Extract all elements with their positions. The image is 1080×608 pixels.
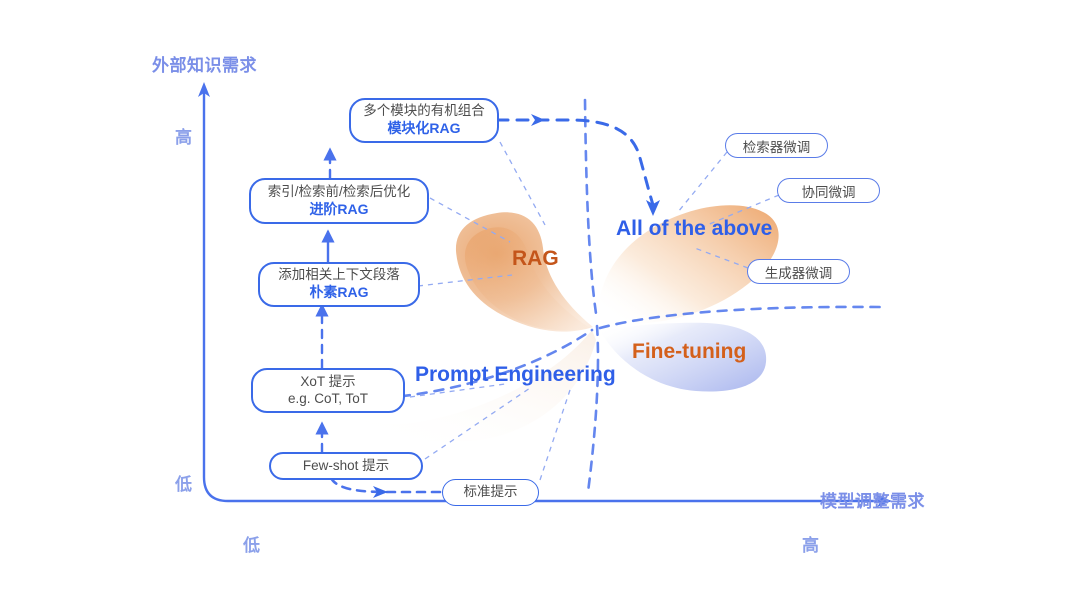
divider-vertical <box>585 100 597 320</box>
node-advanced-rag-line2: 进阶RAG <box>309 201 368 219</box>
modular-to-allabove-arrow <box>497 114 660 216</box>
node-naive-rag-line2: 朴素RAG <box>309 284 368 302</box>
node-xot-prompting[interactable]: XoT 提示 e.g. CoT, ToT <box>251 368 405 413</box>
pill-retriever-finetune[interactable]: 检索器微调 <box>725 133 828 158</box>
x-axis-tick-low: 低 <box>243 531 260 556</box>
connector-retriever <box>678 152 727 212</box>
node-xot-prompting-line1: XoT 提示 <box>300 374 355 391</box>
pill-collaborative-finetune-label: 协同微调 <box>802 181 856 201</box>
node-modular-rag[interactable]: 多个模块的有机组合 模块化RAG <box>349 98 499 143</box>
node-few-shot-prompting-label: Few-shot 提示 <box>303 458 389 475</box>
region-label-fine-tuning: Fine-tuning <box>632 340 746 364</box>
region-label-all-of-the-above: All of the above <box>616 217 772 241</box>
pill-generator-finetune[interactable]: 生成器微调 <box>747 259 850 284</box>
diagram-canvas: 外部知识需求 模型调整需求 高 低 低 高 RAG Fine-tuning Al… <box>0 0 1080 608</box>
y-axis-tick-high: 高 <box>175 123 192 148</box>
node-advanced-rag[interactable]: 索引/检索前/检索后优化 进阶RAG <box>249 178 429 224</box>
pill-retriever-finetune-label: 检索器微调 <box>743 136 811 156</box>
pill-generator-finetune-label: 生成器微调 <box>765 262 833 282</box>
x-axis-title: 模型调整需求 <box>820 487 925 512</box>
node-standard-prompting-label: 标准提示 <box>464 484 518 501</box>
node-modular-rag-line1: 多个模块的有机组合 <box>363 103 485 120</box>
region-label-rag: RAG <box>512 247 559 271</box>
y-axis-title: 外部知识需求 <box>152 51 257 76</box>
y-axis-tick-low: 低 <box>175 470 192 495</box>
node-advanced-rag-line1: 索引/检索前/检索后优化 <box>268 184 411 201</box>
node-standard-prompting[interactable]: 标准提示 <box>442 479 539 506</box>
x-axis-tick-high: 高 <box>802 531 819 556</box>
node-modular-rag-line2: 模块化RAG <box>387 120 460 138</box>
pill-collaborative-finetune[interactable]: 协同微调 <box>777 178 880 203</box>
node-naive-rag-line1: 添加相关上下文段落 <box>278 267 400 284</box>
midpoint-arrowhead <box>531 114 545 126</box>
node-naive-rag[interactable]: 添加相关上下文段落 朴素RAG <box>258 262 420 307</box>
diagram-vector-layer <box>0 0 1080 608</box>
region-label-prompt-engineering: Prompt Engineering <box>415 363 616 387</box>
node-few-shot-prompting[interactable]: Few-shot 提示 <box>269 452 423 480</box>
node-xot-prompting-line2: e.g. CoT, ToT <box>288 391 368 408</box>
